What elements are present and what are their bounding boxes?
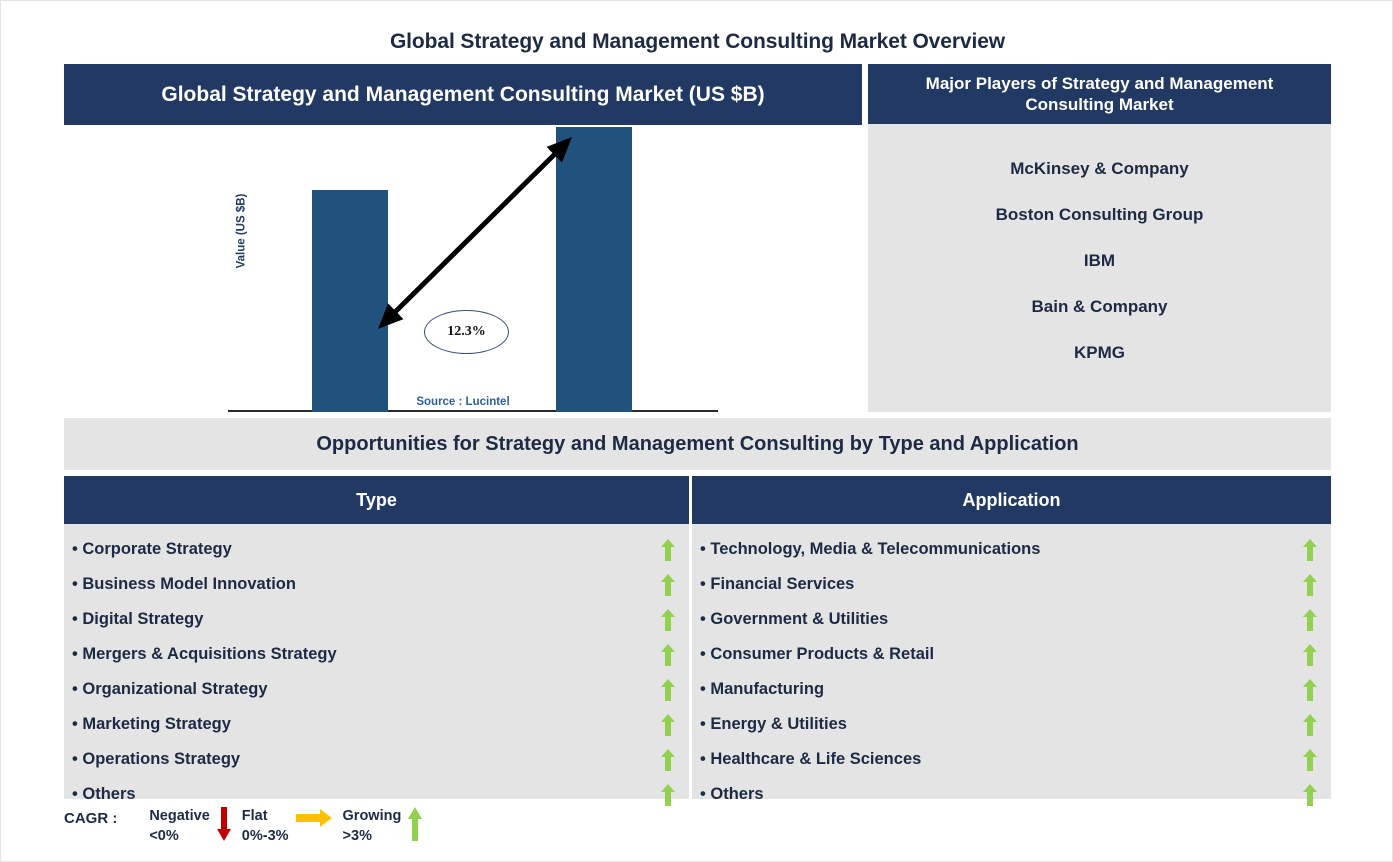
arrow-up-icon xyxy=(661,644,675,666)
market-chart-panel: Global Strategy and Management Consultin… xyxy=(64,64,862,412)
list-item-label: • Mergers & Acquisitions Strategy xyxy=(72,645,337,664)
arrow-up-icon xyxy=(661,784,675,806)
legend-item-growing: Growing >3% xyxy=(343,807,430,846)
arrow-up-icon xyxy=(661,609,675,631)
legend-growing-range: >3% xyxy=(343,827,402,847)
application-column-panel: Application • Technology, Media & Teleco… xyxy=(692,476,1331,799)
chart-panel-header: Global Strategy and Management Consultin… xyxy=(64,64,862,125)
list-item: KPMG xyxy=(868,330,1331,376)
list-item-label: • Healthcare & Life Sciences xyxy=(700,750,921,769)
list-item-label: • Others xyxy=(72,785,136,804)
arrow-up-icon xyxy=(661,714,675,736)
list-item: • Business Model Innovation xyxy=(64,567,689,602)
arrow-up-icon xyxy=(1303,784,1317,806)
legend-flat-range: 0%-3% xyxy=(242,827,289,847)
cagr-legend: CAGR : Negative <0% Flat 0%-3% Growing >… xyxy=(64,807,484,855)
list-item-label: • Corporate Strategy xyxy=(72,540,232,559)
list-item: • Marketing Strategy xyxy=(64,707,689,742)
arrow-up-icon xyxy=(661,539,675,561)
type-list: • Corporate Strategy • Business Model In… xyxy=(64,524,689,812)
arrow-up-icon xyxy=(408,807,422,841)
players-list: McKinsey & Company Boston Consulting Gro… xyxy=(868,124,1331,376)
bar-2025 xyxy=(312,190,388,412)
application-column-header: Application xyxy=(692,476,1331,524)
legend-flat-label: Flat xyxy=(242,807,289,827)
list-item: • Healthcare & Life Sciences xyxy=(692,742,1331,777)
arrow-up-icon xyxy=(661,749,675,771)
legend-growing-text: Growing >3% xyxy=(343,807,402,846)
list-item: • Organizational Strategy xyxy=(64,672,689,707)
arrow-up-icon xyxy=(1303,679,1317,701)
list-item: • Mergers & Acquisitions Strategy xyxy=(64,637,689,672)
arrow-down-icon xyxy=(217,807,231,841)
major-players-panel: Major Players of Strategy and Management… xyxy=(868,64,1331,412)
list-item: • Digital Strategy xyxy=(64,602,689,637)
list-item: IBM xyxy=(868,238,1331,284)
list-item-label: • Energy & Utilities xyxy=(700,715,847,734)
bar-series xyxy=(64,125,862,412)
opportunities-banner: Opportunities for Strategy and Managemen… xyxy=(64,418,1331,470)
list-item-label: • Organizational Strategy xyxy=(72,680,268,699)
list-item-label: • Others xyxy=(700,785,764,804)
list-item-label: • Business Model Innovation xyxy=(72,575,296,594)
bar-chart: Value (US $B) 12.3% 2025 203 xyxy=(64,125,862,412)
infographic-page: Global Strategy and Management Consultin… xyxy=(0,0,1393,862)
chart-source-label: Source : Lucintel xyxy=(64,396,862,408)
list-item: Boston Consulting Group xyxy=(868,192,1331,238)
list-item-label: • Financial Services xyxy=(700,575,854,594)
legend-negative-text: Negative <0% xyxy=(149,807,209,846)
type-column-header: Type xyxy=(64,476,689,524)
arrow-up-icon xyxy=(1303,609,1317,631)
legend-flat-text: Flat 0%-3% xyxy=(242,807,289,846)
list-item: • Others xyxy=(692,777,1331,812)
list-item-label: • Consumer Products & Retail xyxy=(700,645,934,664)
cagr-legend-title: CAGR : xyxy=(64,807,117,827)
list-item: • Operations Strategy xyxy=(64,742,689,777)
legend-negative-label: Negative xyxy=(149,807,209,827)
legend-negative-range: <0% xyxy=(149,827,209,847)
arrow-up-icon xyxy=(1303,714,1317,736)
arrow-up-icon xyxy=(1303,644,1317,666)
arrow-up-icon xyxy=(1303,749,1317,771)
legend-growing-label: Growing xyxy=(343,807,402,827)
list-item: McKinsey & Company xyxy=(868,146,1331,192)
arrow-up-icon xyxy=(661,574,675,596)
list-item-label: • Operations Strategy xyxy=(72,750,240,769)
bar-2031 xyxy=(556,127,632,412)
list-item-label: • Marketing Strategy xyxy=(72,715,231,734)
cagr-value-badge: 12.3% xyxy=(424,310,509,354)
list-item: Bain & Company xyxy=(868,284,1331,330)
list-item: • Energy & Utilities xyxy=(692,707,1331,742)
legend-item-flat: Flat 0%-3% xyxy=(242,807,339,846)
list-item: • Corporate Strategy xyxy=(64,532,689,567)
list-item: • Government & Utilities xyxy=(692,602,1331,637)
list-item-label: • Technology, Media & Telecommunications xyxy=(700,540,1040,559)
arrow-up-icon xyxy=(1303,539,1317,561)
list-item: • Manufacturing xyxy=(692,672,1331,707)
arrow-up-icon xyxy=(661,679,675,701)
arrow-right-icon xyxy=(296,807,332,841)
type-column-panel: Type • Corporate Strategy • Business Mod… xyxy=(64,476,689,799)
players-panel-header: Major Players of Strategy and Management… xyxy=(868,64,1331,124)
page-title: Global Strategy and Management Consultin… xyxy=(1,30,1393,54)
application-list: • Technology, Media & Telecommunications… xyxy=(692,524,1331,812)
legend-item-negative: Negative <0% xyxy=(149,807,237,846)
list-item: • Consumer Products & Retail xyxy=(692,637,1331,672)
list-item-label: • Digital Strategy xyxy=(72,610,203,629)
arrow-up-icon xyxy=(1303,574,1317,596)
list-item-label: • Manufacturing xyxy=(700,680,824,699)
list-item: • Technology, Media & Telecommunications xyxy=(692,532,1331,567)
list-item-label: • Government & Utilities xyxy=(700,610,888,629)
list-item: • Financial Services xyxy=(692,567,1331,602)
